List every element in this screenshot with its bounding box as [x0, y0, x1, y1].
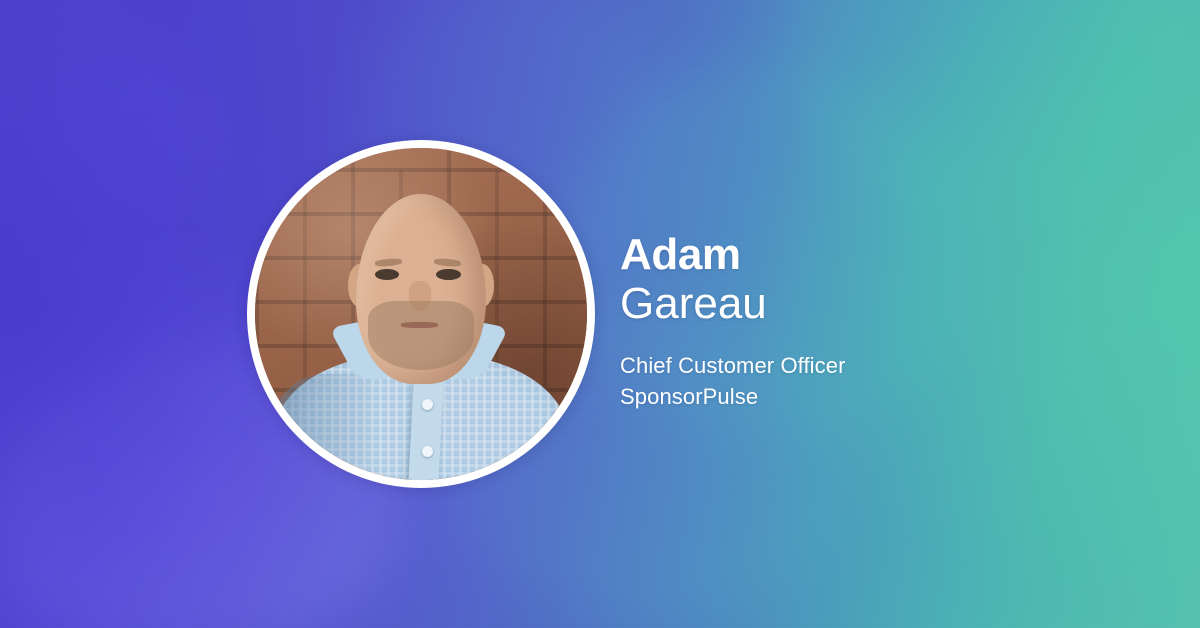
portrait-ring	[247, 140, 595, 488]
shirt-shadow	[268, 374, 381, 480]
avatar	[255, 148, 587, 480]
person-figure	[255, 148, 587, 480]
speaker-last-name: Gareau	[620, 279, 846, 328]
grain-texture	[0, 0, 1200, 628]
speaker-first-name: Adam	[620, 232, 846, 279]
shirt-button	[422, 446, 433, 457]
beard	[368, 301, 474, 371]
shirt-button	[422, 399, 433, 410]
speaker-organization: SponsorPulse	[620, 381, 846, 412]
speaker-details: Adam Gareau Chief Customer Officer Spons…	[620, 232, 846, 412]
mouth	[401, 322, 438, 327]
speaker-job-title: Chief Customer Officer	[620, 350, 846, 381]
speaker-card: Adam Gareau Chief Customer Officer Spons…	[0, 0, 1200, 628]
